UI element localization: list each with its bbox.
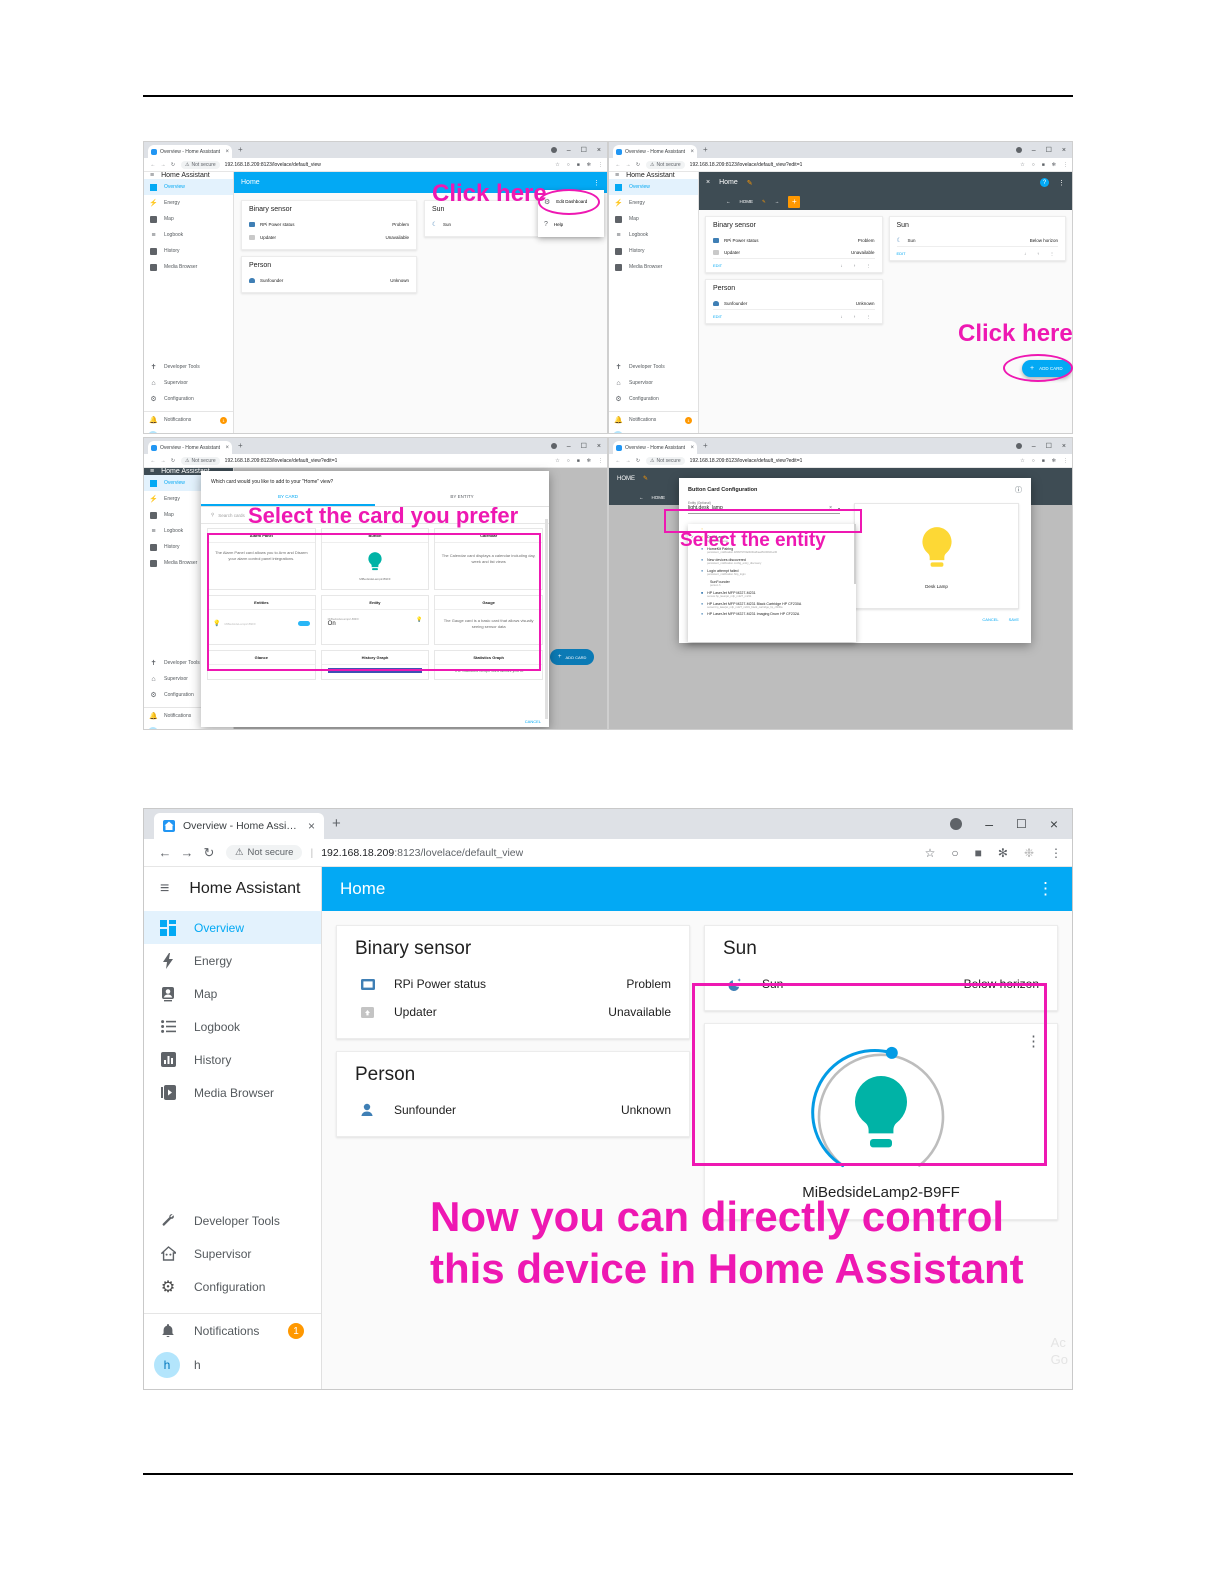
card-move-up-icon[interactable]: ↑ [854,314,856,319]
sidebar-item-label: Map [164,512,174,518]
sidebar-item-history[interactable]: History [609,243,698,259]
forward-icon[interactable]: → [158,162,168,168]
entity-row[interactable]: Updater Unavailable [249,231,409,244]
sidebar-item-configuration[interactable]: ⚙ Configuration [144,687,233,703]
view-title: Home [241,179,260,186]
sidebar-item-notifications[interactable]: 🔔 Notifications 1 [144,708,233,724]
view-tab-home[interactable]: HOME [652,495,666,500]
sidebar-item-label: Developer Tools [164,364,200,370]
browser-tab[interactable]: Overview - Home Assistant × [148,145,232,158]
dropdown-option[interactable]: ● HP LaserJet MFP M227-M231 Black Cartri… [688,600,856,611]
forward-icon[interactable]: → [623,162,633,168]
sidebar-item-media-browser[interactable]: Media Browser [144,555,233,571]
url-path: :8123/lovelace/default_view [394,847,523,859]
chart-box-icon [160,1052,176,1067]
site-security-chip[interactable]: ⚠ Not secure [181,161,220,169]
page-rule-bottom [143,1473,1073,1475]
minimize-button[interactable]: – [567,443,571,450]
view-dashboard-icon [160,920,176,936]
overflow-menu-icon[interactable]: ⋮ [593,179,600,187]
card-overflow-icon[interactable]: ⋮ [867,314,871,319]
warning-icon: ⚠ [650,162,654,168]
option-id: sensor.hp_laserjet_mfp_m227_m231_black_c… [707,606,801,609]
bell-icon: 🔔 [150,712,157,720]
hamburger-menu-icon[interactable]: ≡ [160,880,169,898]
dialog-scrollbar[interactable] [545,519,548,719]
sidebar-item-configuration[interactable]: ⚙ Configuration [144,391,233,407]
windows-activation-watermark: Ac Go [1051,1335,1068,1369]
card-option-preview-name: MiBedsideLamp2-B9FF [328,617,423,621]
dialog-cancel-button[interactable]: CANCEL [525,719,541,724]
map-marker-icon [615,216,622,223]
minimize-button[interactable]: – [567,147,571,154]
maximize-button[interactable]: ☐ [581,146,587,154]
card-edit-button[interactable]: EDIT [713,263,722,268]
menu-item-label: Help [554,222,563,227]
cancel-button[interactable]: CANCEL [982,617,998,622]
minimize-button[interactable]: – [1032,443,1036,450]
watermark-line-2: Go [1051,1352,1068,1369]
option-name: Login attempt failed [707,569,745,573]
extension-icon[interactable]: ■ [1042,162,1045,168]
card-option-desc: The Calendar card displays a calendar in… [435,543,542,575]
address-bar[interactable]: 192.168.18.209:8123/lovelace/default_vie… [225,458,338,464]
option-id: person.h [710,584,730,587]
sidebar-item-energy[interactable]: ⚡ Energy [609,195,698,211]
sidebar-item-developer-tools[interactable]: ✝ Developer Tools [609,359,698,375]
sidebar-item-label: History [194,1053,231,1067]
bookmark-star-icon[interactable]: ☆ [925,846,936,860]
new-tab-icon[interactable]: + [703,441,708,450]
profile-circle-icon[interactable]: ○ [567,458,570,464]
sidebar-item-label: Notifications [629,417,656,423]
card-move-up-icon[interactable]: ↑ [854,263,856,268]
profile-icon[interactable] [1016,443,1022,449]
map-marker-icon [150,512,157,519]
sidebar-item-map[interactable]: Map [144,211,233,227]
entity-state: Unavailable [851,250,875,255]
card-grid: Alarm Panel The Alarm Panel card allows … [201,524,549,684]
extension-icon[interactable]: ■ [577,458,580,464]
overflow-menu-icon[interactable]: ⋮ [1037,879,1054,899]
card-option-button[interactable]: Button MiBedsideLamp2-B9FF [321,528,430,590]
sidebar-item-energy[interactable]: Energy [144,944,321,977]
forward-icon[interactable]: → [158,458,168,464]
minimize-button[interactable]: – [1032,147,1036,154]
add-card-label: ADD CARD [566,655,587,660]
card-option-preview-state: On [328,621,423,627]
view-prev-icon[interactable]: ← [639,495,644,500]
format-list-icon [160,1020,176,1033]
browser-tab[interactable]: Overview - Home Assistant × [613,441,697,454]
lightning-bolt-icon: ⚡ [615,199,622,207]
browser-menu-icon[interactable]: ⋮ [1050,846,1062,860]
view-tab-home[interactable]: HOME [740,199,754,204]
sidebar-item-overview[interactable]: Overview [609,179,698,195]
chart-box-icon [150,248,157,255]
browser-tab[interactable]: Overview - Home Assistant × [154,813,324,839]
security-label: Not secure [191,458,215,464]
card-option-history-graph[interactable]: History Graph [321,650,430,680]
puzzle-icon[interactable]: ✻ [587,162,591,168]
sidebar-item-label: Overview [164,184,185,190]
puzzle-icon[interactable]: ✻ [998,846,1008,860]
entity-state: Below horizon [564,222,592,227]
entity-row[interactable]: RPi Power status Problem [355,970,671,998]
home-assistant-icon [160,1246,176,1261]
card-option-entity[interactable]: Entity MiBedsideLamp2-B9FF On 💡 [321,595,430,645]
puzzle-icon[interactable]: ✻ [1052,162,1056,168]
package-up-icon [249,235,255,240]
close-tab-icon[interactable]: × [687,445,694,451]
sidebar-item-overview[interactable]: Overview [144,475,233,491]
card-edit-button[interactable]: EDIT [713,314,722,319]
browser-menu-icon[interactable]: ⋮ [1063,458,1068,464]
address-bar[interactable]: 192.168.18.209:8123/lovelace/default_vie… [225,162,321,168]
search-input[interactable]: Search cards [218,513,245,518]
back-icon[interactable]: ← [154,845,176,860]
cog-icon: ⚙ [160,1277,176,1297]
dialog-question: Which card would you like to add to your… [201,471,549,489]
sidebar-item-label: Overview [194,921,244,935]
search-icon: ⚲ [211,512,214,518]
sidebar-item-logbook[interactable]: ≡ Logbook [144,523,233,539]
close-window-button[interactable]: × [1062,147,1066,154]
card-option-glance[interactable]: Glance [207,650,316,680]
bell-icon: 🔔 [615,416,622,424]
entity-row[interactable]: Sunfounder Unknown [355,1096,671,1124]
entity-row[interactable]: RPi Power status Problem [249,218,409,231]
dropdown-option[interactable]: ● New devices discovered persistent_noti… [688,556,856,567]
reload-icon[interactable]: ↻ [198,845,220,861]
help-circle-icon[interactable]: ⓘ [1015,485,1022,495]
extension-icon[interactable]: ■ [975,846,982,860]
address-bar[interactable]: 192.168.18.209:8123/lovelace/default_vie… [690,458,803,464]
profile-circle-icon[interactable]: ○ [1032,458,1035,464]
card-overflow-icon[interactable]: ⋮ [867,263,871,268]
translate-icon[interactable]: ❉ [1024,846,1034,860]
sidebar-item-label: Developer Tools [164,660,200,666]
annotation-select-card: Select the card you prefer [248,505,518,527]
site-security-chip[interactable]: ⚠ Not secure [646,161,685,169]
chip-icon [249,222,255,227]
sidebar-item-developer-tools[interactable]: Developer Tools [144,1204,321,1237]
sidebar-item-map[interactable]: Map [609,211,698,227]
close-tab-icon[interactable]: × [300,819,315,833]
sidebar-item-supervisor[interactable]: Supervisor [144,1237,321,1270]
option-id: sensor.hp_laserjet_mfp_m227_m231 [707,595,755,598]
ha-brand: Home Assistant [626,172,675,179]
address-bar[interactable]: 192.168.18.209:8123/lovelace/default_vie… [321,847,523,859]
toggle-switch[interactable] [298,621,310,626]
sidebar-item-label: Notifications [194,1324,259,1338]
new-tab-icon[interactable]: + [703,145,708,154]
card-edit-button[interactable]: EDIT [897,251,906,256]
sidebar-item-energy[interactable]: ⚡ Energy [144,195,233,211]
back-icon[interactable]: ← [148,458,158,464]
sidebar-item-notifications[interactable]: 🔔 Notifications 1 [609,412,698,428]
card-title: Person [249,262,409,269]
lightbulb-icon [915,524,959,578]
entity-row[interactable]: Sunfounder Unknown [249,274,409,287]
card-option-title: Button [322,529,429,543]
close-window-button[interactable]: × [597,443,601,450]
entity-state: Unavailable [385,235,409,240]
bookmark-star-icon[interactable]: ☆ [555,458,559,464]
close-window-button[interactable]: × [1062,443,1066,450]
sidebar-item-logbook[interactable]: ≡ Logbook [144,227,233,243]
back-icon[interactable]: ← [613,162,623,168]
maximize-button[interactable]: ☐ [1046,146,1052,154]
reload-icon[interactable]: ↻ [633,458,643,464]
water-icon: ● [701,612,703,616]
browser-menu-icon[interactable]: ⋮ [598,162,603,168]
entity-row[interactable]: RPi Power status Problem [713,234,875,246]
dropdown-option[interactable]: SunFounder person.h [688,578,856,589]
entity-row[interactable]: ☾ Sun Below horizon [432,218,592,231]
sidebar-item-logbook[interactable]: Logbook [144,1010,321,1043]
browser-tab[interactable]: Overview - Home Assistant × [148,441,232,454]
new-tab-icon[interactable]: + [332,815,341,832]
map-marker-icon [160,986,176,1002]
sidebar-item-history[interactable]: History [144,243,233,259]
sidebar-item-developer-tools[interactable]: ✝ Developer Tools [144,655,233,671]
card-move-up-icon[interactable]: ↑ [1037,251,1039,256]
profile-circle-icon[interactable]: ○ [1032,162,1035,168]
sidebar-item-overview[interactable]: Overview [144,911,321,944]
edit-pencil-icon[interactable]: ✎ [747,179,753,187]
notification-badge: 1 [685,417,692,424]
sidebar-item-label: Logbook [164,232,183,238]
sidebar-item-label: Supervisor [164,380,188,386]
close-tab-icon[interactable]: × [222,149,229,155]
sidebar-item-label: h [628,433,631,434]
close-window-button[interactable]: × [597,147,601,154]
maximize-button[interactable]: ☐ [1046,442,1052,450]
address-bar[interactable]: 192.168.18.209:8123/lovelace/default_vie… [690,162,803,168]
profile-icon[interactable] [950,818,962,830]
puzzle-icon[interactable]: ✻ [1052,458,1056,464]
close-window-button[interactable]: × [1050,816,1058,832]
sidebar-item-label: History [164,248,180,254]
chart-box-icon [615,248,622,255]
card-option-entities[interactable]: Entities 💡 MiBedsideLamp2-B9FF [207,595,316,645]
sidebar-item-configuration[interactable]: ⚙ Configuration [144,1270,321,1303]
help-circle-icon[interactable]: ? [1040,178,1049,187]
entity-row[interactable]: Updater Unavailable [355,998,671,1026]
sidebar-item-label: Logbook [194,1020,240,1034]
view-prev-icon[interactable]: ← [726,199,731,204]
sidebar-item-notifications[interactable]: Notifications 1 [144,1314,321,1348]
sidebar-item-configuration[interactable]: ⚙ Configuration [609,391,698,407]
avatar: h [154,1352,180,1378]
view-next-icon[interactable]: → [775,199,780,204]
bell-icon: 🔔 [150,416,157,424]
forward-icon[interactable]: → [623,458,633,464]
back-icon[interactable]: ← [613,458,623,464]
chevron-down-icon[interactable]: ▾ [838,506,840,511]
sidebar-item-media-browser[interactable]: Media Browser [609,259,698,275]
puzzle-icon[interactable]: ✻ [587,458,591,464]
sidebar-item-label: h [163,729,166,730]
browser-menu-icon[interactable]: ⋮ [1063,162,1068,168]
view-title: Home [340,879,385,899]
dropdown-option[interactable]: ● HP LaserJet MFP M227-M231 Imaging Drum… [688,611,856,618]
site-security-chip[interactable]: ⚠ Not secure [226,845,302,860]
sidebar-item-logbook[interactable]: ≡ Logbook [609,227,698,243]
person-card: Person Sunfounder Unknown [336,1051,690,1137]
new-tab-icon[interactable]: + [238,441,243,450]
profile-icon[interactable] [551,443,557,449]
lightning-bolt-icon: ⚡ [150,199,157,207]
profile-icon[interactable] [1016,147,1022,153]
sidebar-item-energy[interactable]: ⚡ Energy [144,491,233,507]
sidebar-item-overview[interactable]: Overview [144,179,233,195]
entity-input[interactable]: light.desk_lamp [688,505,723,511]
sidebar-item-history[interactable]: History [144,539,233,555]
entity-row[interactable]: Sunfounder Unknown [713,297,875,309]
entity-name: Sunfounder [394,1103,456,1117]
annotation-rect-card-grid [207,533,541,671]
annotation-conclusion-line-1: Now you can directly control [430,1196,1004,1238]
card-option-title: Gauge [435,596,542,610]
sidebar-item-developer-tools[interactable]: ✝ Developer Tools [144,359,233,375]
home-assistant-icon: ⌂ [150,676,157,683]
close-edit-icon[interactable]: × [706,179,710,186]
card-move-down-icon[interactable]: ↓ [841,314,843,319]
sidebar-item-history[interactable]: History [144,1043,321,1076]
button-card-configuration-dialog: Button Card Configuration ⓘ Entity (Opti… [679,478,1031,643]
dropdown-option[interactable]: ■ HP LaserJet MFP M227-M231 sensor.hp_la… [688,589,856,600]
card-move-down-icon[interactable]: ↓ [841,263,843,268]
button-card-preview: Desk Lamp [854,503,1019,609]
bookmark-star-icon[interactable]: ☆ [1020,458,1024,464]
account-icon [360,1103,376,1117]
close-tab-icon[interactable]: × [222,445,229,451]
reload-icon[interactable]: ↻ [168,458,178,464]
sidebar-item-label: Configuration [164,396,194,402]
sidebar-item-supervisor[interactable]: ⌂ Supervisor [144,671,233,687]
clear-icon[interactable]: × [829,505,832,511]
dropdown-scrollbar[interactable] [854,524,856,584]
notification-badge: 1 [220,713,227,720]
reload-icon[interactable]: ↻ [168,162,178,168]
play-box-icon [150,560,157,567]
person-card: Person Sunfounder Unknown EDIT ↓ ↑ ⋮ [705,279,883,324]
close-tab-icon[interactable]: × [687,149,694,155]
add-view-button[interactable]: + [788,196,800,208]
maximize-button[interactable]: ☐ [581,442,587,450]
binary-sensor-card: Binary sensor RPi Power status Problem U… [705,216,883,273]
entity-name: RPi Power status [260,222,295,227]
card-option-gauge[interactable]: Gauge The Gauge card is a basic card tha… [434,595,543,645]
tab-title: Overview - Home Assistant [160,445,220,451]
entity-row[interactable]: Updater Unavailable [713,246,875,258]
site-security-chip[interactable]: ⚠ Not secure [181,457,220,465]
sidebar-item-map[interactable]: Map [144,977,321,1010]
sidebar-item-media-browser[interactable]: Media Browser [144,1076,321,1109]
card-option-alarm-panel[interactable]: Alarm Panel The Alarm Panel card allows … [207,528,316,590]
sidebar-item-label: Supervisor [629,380,653,386]
overflow-menu-icon[interactable]: ⋮ [1058,179,1065,187]
sidebar-nav: Overview Energy Map [144,911,321,1109]
entity-state: Unknown [856,301,875,306]
sidebar-item-supervisor[interactable]: ⌂ Supervisor [609,375,698,391]
card-option-title: Alarm Panel [208,529,315,543]
hammer-wrench-icon: ✝ [615,363,622,371]
sidebar-item-media-browser[interactable]: Media Browser [144,259,233,275]
extension-icon[interactable]: ■ [1042,458,1045,464]
profile-circle-icon[interactable]: ○ [951,846,958,860]
entity-state: Unknown [621,1103,671,1117]
reload-icon[interactable]: ↻ [633,162,643,168]
profile-circle-icon[interactable]: ○ [567,162,570,168]
card-option-desc: The Gauge card is a basic card that allo… [435,610,542,638]
entity-row[interactable]: ☾ Sun Below horizon [897,234,1059,246]
sidebar-item-label: Overview [629,184,650,190]
sidebar-item-map[interactable]: Map [144,507,233,523]
play-box-icon [615,264,622,271]
card-move-down-icon[interactable]: ↓ [1024,251,1026,256]
extension-icon[interactable]: ■ [577,162,580,168]
menu-item-help[interactable]: ? Help [538,213,604,236]
sidebar-item-label: Developer Tools [194,1214,280,1228]
avatar: h [148,431,158,434]
bell-icon: ● [701,569,703,573]
forward-icon[interactable]: → [176,845,198,860]
site-security-chip[interactable]: ⚠ Not secure [646,457,685,465]
sidebar-item-user[interactable]: h h [144,724,233,730]
bell-icon [160,1324,176,1339]
sidebar-item-notifications[interactable]: 🔔 Notifications 1 [144,412,233,428]
bookmark-star-icon[interactable]: ☆ [555,162,559,168]
browser-menu-icon[interactable]: ⋮ [598,458,603,464]
new-tab-icon[interactable]: + [238,145,243,154]
add-card-button[interactable]: + ADD CARD [550,649,594,665]
annotation-click-here-2: Click here [958,322,1073,346]
card-overflow-icon[interactable]: ⋮ [1050,251,1054,256]
hammer-wrench-icon [160,1213,176,1228]
card-option-statistics-graph[interactable]: Statistics Graph The Statistics Graph ca… [434,650,543,680]
sidebar-item-user[interactable]: h h [609,428,698,434]
edit-pencil-icon[interactable]: ✎ [643,475,648,482]
card-option-title: Glance [208,651,315,665]
profile-icon[interactable] [551,147,557,153]
card-option-calendar[interactable]: Calendar The Calendar card displays a ca… [434,528,543,590]
maximize-button[interactable]: ☐ [1016,817,1027,831]
lightning-bolt-icon: ⚡ [150,495,157,503]
hamburger-menu-icon[interactable]: ≡ [615,172,619,179]
entity-name: Updater [394,1005,437,1019]
view-edit-pencil-icon[interactable]: ✎ [762,199,766,205]
hamburger-menu-icon[interactable]: ≡ [150,468,154,475]
browser-tab[interactable]: Overview - Home Assistant × [613,145,697,158]
option-name: New devices discovered [707,558,761,562]
sidebar-item-user[interactable]: h h [144,428,233,434]
url-host: 192.168.18.209 [321,847,394,859]
sidebar-item-user[interactable]: h h [144,1348,321,1382]
sidebar-item-label: Energy [164,200,180,206]
hamburger-menu-icon[interactable]: ≡ [150,172,154,179]
back-icon[interactable]: ← [148,162,158,168]
sidebar-item-label: Configuration [629,396,659,402]
sidebar-item-label: Energy [194,954,232,968]
minimize-button[interactable]: – [985,816,993,832]
sidebar-item-supervisor[interactable]: ⌂ Supervisor [144,375,233,391]
dropdown-option[interactable]: ● Login attempt failed persistent_notifi… [688,567,856,578]
bookmark-star-icon[interactable]: ☆ [1020,162,1024,168]
save-button[interactable]: SAVE [1009,617,1019,622]
